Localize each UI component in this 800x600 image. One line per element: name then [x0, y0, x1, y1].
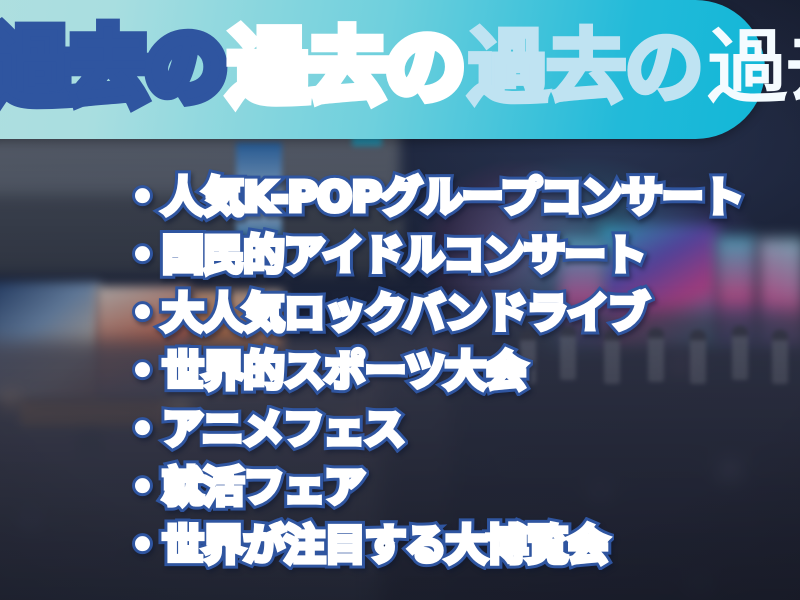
list-item-text-stack: ・国民的アイドルコンサート ・国民的アイドルコンサート ・国民的アイドルコンサー… [122, 235, 646, 276]
title-kako-outline-white: 過去の [229, 21, 463, 114]
list-item: ・大人気ロックバンドライブ ・大人気ロックバンドライブ ・大人気ロックバンドライ… [122, 284, 762, 342]
list-item: ・世界的スポーツ大会 ・世界的スポーツ大会 ・世界的スポーツ大会 [122, 342, 762, 400]
list-item-text-stack: ・世界的スポーツ大会 ・世界的スポーツ大会 ・世界的スポーツ大会 [122, 351, 526, 392]
list-item-label: ・アニメフェス [122, 405, 405, 453]
title-segment-kako: 過去の 過去の 過去の 過去の [0, 28, 800, 108]
list-item: ・人気K-POPグループコンサート ・人気K-POPグループコンサート ・人気K… [122, 168, 762, 226]
list-item-label: ・人気K-POPグループコンサート [122, 173, 743, 221]
event-list: ・人気K-POPグループコンサート ・人気K-POPグループコンサート ・人気K… [122, 168, 762, 574]
list-item-label: ・世界が注目する大博覧会 [122, 521, 608, 569]
title-kako-outline-outer: 過去の [0, 21, 224, 114]
title-text-row: 過去の 過去の 過去の 過去の イベント イベント イベント イベント 実績 実… [0, 14, 800, 122]
list-item-label: ・世界的スポーツ大会 [122, 347, 526, 395]
list-item-label: ・大人気ロックバンドライブ [122, 289, 649, 337]
slide-canvas: 過去の 過去の 過去の 過去の イベント イベント イベント イベント 実績 実… [0, 0, 800, 600]
list-item-label: ・国民的アイドルコンサート [122, 231, 646, 279]
list-item-text-stack: ・アニメフェス ・アニメフェス ・アニメフェス [122, 409, 405, 450]
list-item-text-stack: ・人気K-POPグループコンサート ・人気K-POPグループコンサート ・人気K… [122, 177, 743, 218]
title-banner: 過去の 過去の 過去の 過去の イベント イベント イベント イベント 実績 実… [0, 0, 765, 139]
list-item-text-stack: ・世界が注目する大博覧会 ・世界が注目する大博覧会 ・世界が注目する大博覧会 [122, 525, 608, 566]
list-item-text-stack: ・大人気ロックバンドライブ ・大人気ロックバンドライブ ・大人気ロックバンドライ… [122, 293, 649, 334]
title-kako-outline-lightblue: 過去の [468, 21, 702, 114]
list-item: ・アニメフェス ・アニメフェス ・アニメフェス [122, 400, 762, 458]
list-item-label: ・就活フェア [122, 463, 365, 511]
list-item-text-stack: ・就活フェア ・就活フェア ・就活フェア [122, 467, 365, 508]
title-kako-fill: 過去の [707, 21, 800, 114]
list-item: ・就活フェア ・就活フェア ・就活フェア [122, 458, 762, 516]
list-item: ・世界が注目する大博覧会 ・世界が注目する大博覧会 ・世界が注目する大博覧会 [122, 516, 762, 574]
list-item: ・国民的アイドルコンサート ・国民的アイドルコンサート ・国民的アイドルコンサー… [122, 226, 762, 284]
